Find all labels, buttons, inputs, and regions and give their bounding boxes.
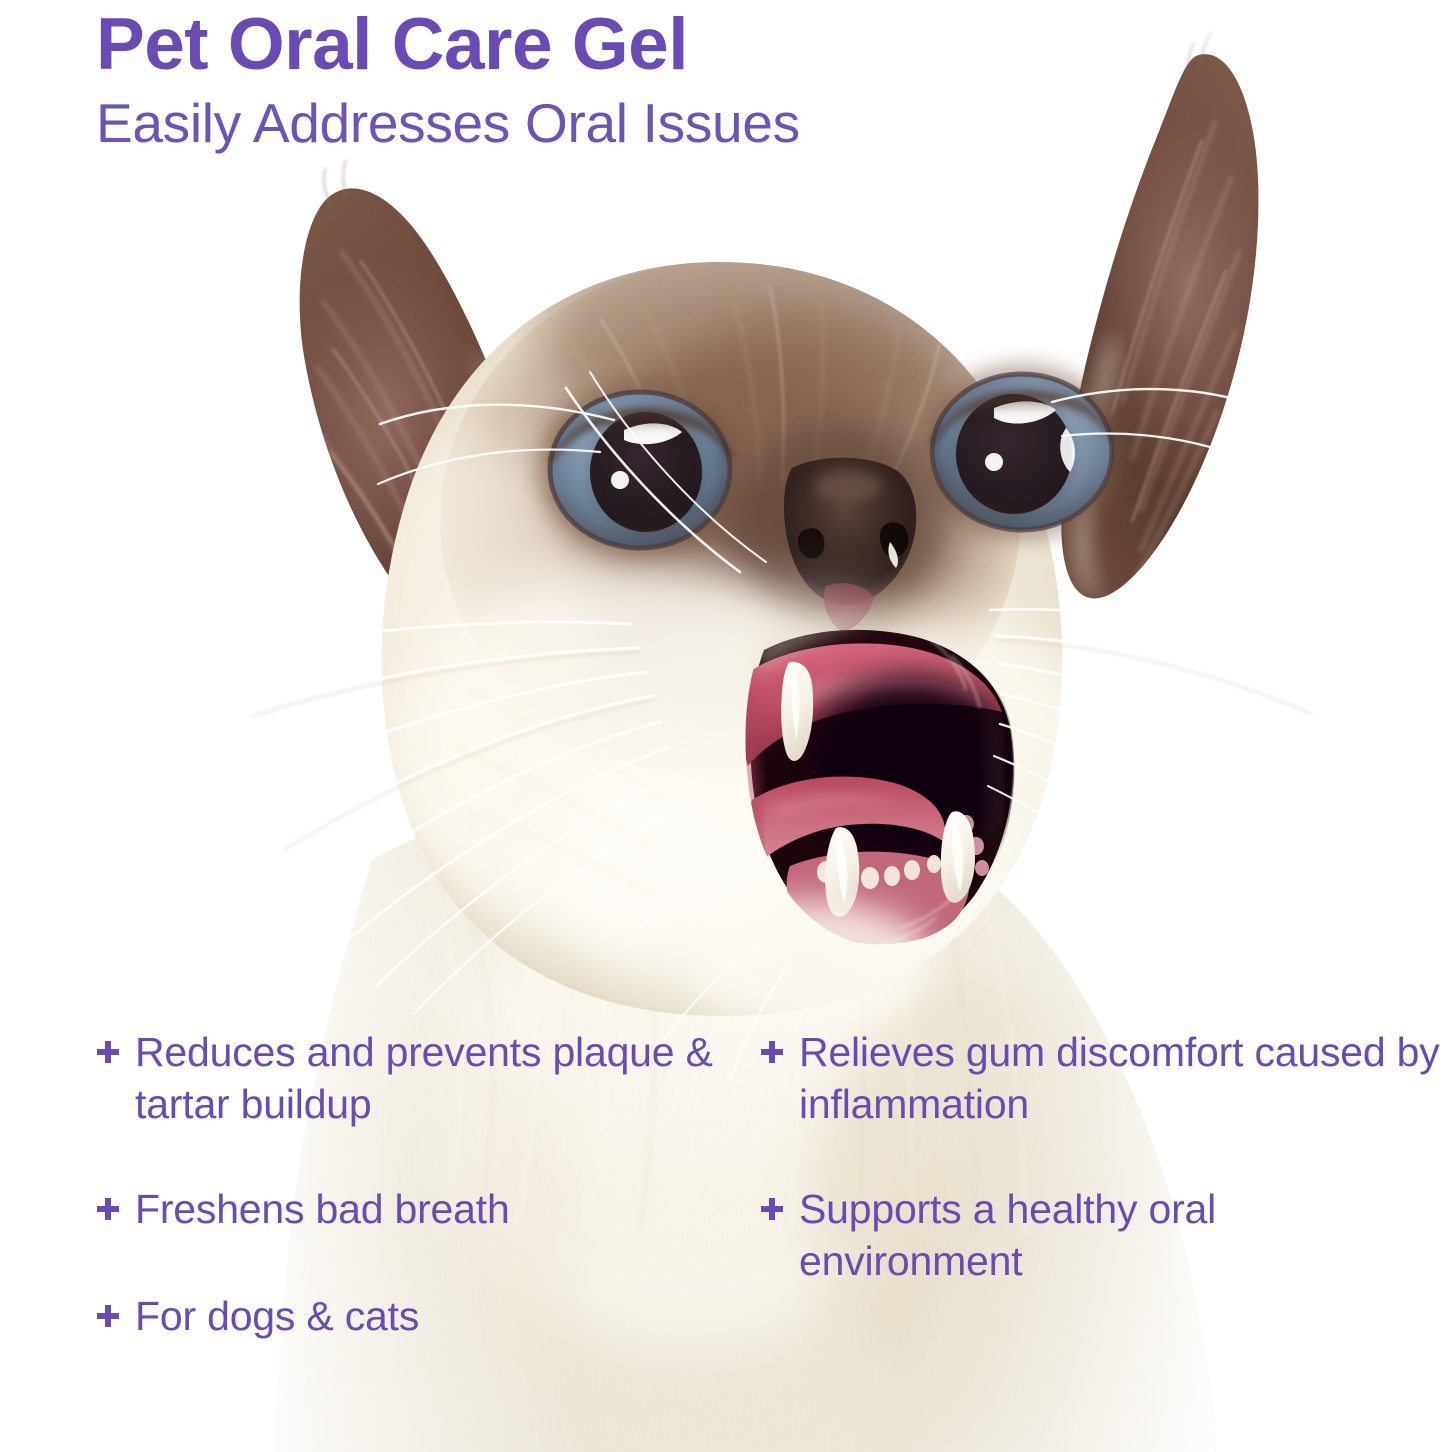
benefit-text: Relieves gum discomfort caused by inflam… <box>799 1026 1445 1131</box>
benefit-item: For dogs & cats <box>96 1290 760 1342</box>
benefit-item: Freshens bad breath <box>96 1183 760 1235</box>
cat-right-eye <box>920 364 1124 540</box>
plus-icon <box>96 1197 120 1221</box>
plus-icon <box>96 1040 120 1064</box>
plus-icon <box>96 1304 120 1328</box>
benefit-item: Supports a healthy oral environment <box>760 1183 1445 1288</box>
benefit-text: Reduces and prevents plaque & tartar bui… <box>135 1026 760 1131</box>
benefits-right-column: Relieves gum discomfort caused by inflam… <box>760 1026 1445 1343</box>
benefit-text: For dogs & cats <box>135 1290 419 1342</box>
benefit-item: Reduces and prevents plaque & tartar bui… <box>96 1026 760 1131</box>
page-subtitle: Easily Addresses Oral Issues <box>96 95 1445 153</box>
plus-icon <box>760 1040 784 1064</box>
benefits-list: Reduces and prevents plaque & tartar bui… <box>0 1026 1445 1343</box>
benefit-text: Freshens bad breath <box>135 1183 510 1235</box>
benefit-text: Supports a healthy oral environment <box>799 1183 1445 1288</box>
marketing-image: Pet Oral Care Gel Easily Addresses Oral … <box>0 0 1445 1452</box>
plus-icon <box>760 1197 784 1221</box>
benefits-left-column: Reduces and prevents plaque & tartar bui… <box>0 1026 760 1343</box>
cat-left-eye <box>538 382 742 558</box>
page-title: Pet Oral Care Gel <box>96 8 1445 81</box>
header-block: Pet Oral Care Gel Easily Addresses Oral … <box>0 0 1445 153</box>
benefit-item: Relieves gum discomfort caused by inflam… <box>760 1026 1445 1131</box>
